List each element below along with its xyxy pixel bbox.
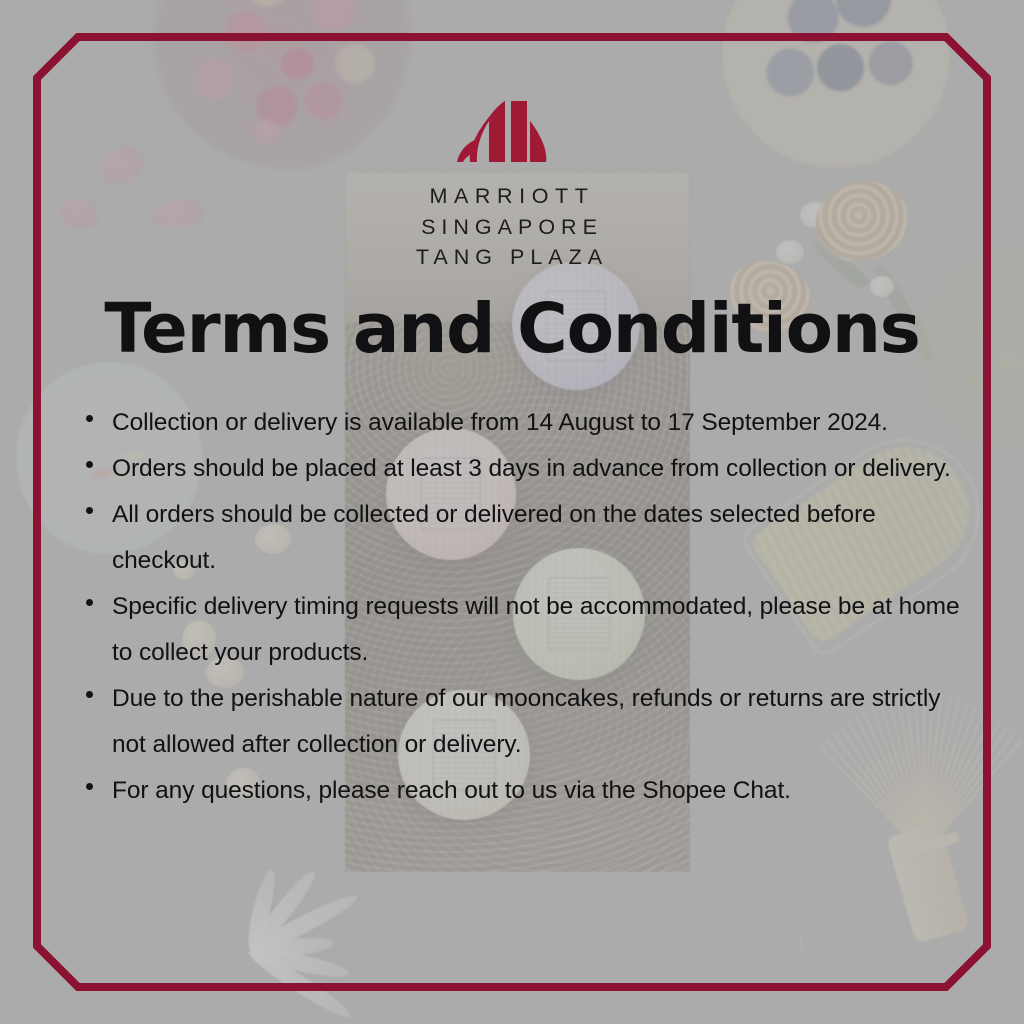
bullet-dot-icon bbox=[86, 691, 93, 698]
term-item: For any questions, please reach out to u… bbox=[80, 768, 968, 814]
term-item: Specific delivery timing requests will n… bbox=[80, 584, 968, 676]
brand-lockup: MARRIOTT SINGAPORE TANG PLAZA bbox=[0, 100, 1024, 273]
bullet-dot-icon bbox=[86, 783, 93, 790]
marriott-m-logo-icon bbox=[456, 100, 568, 172]
term-item: All orders should be collected or delive… bbox=[80, 492, 968, 584]
bullet-dot-icon bbox=[86, 507, 93, 514]
poster-canvas: MARRIOTT SINGAPORE TANG PLAZA Terms and … bbox=[0, 0, 1024, 1024]
brand-line-1: MARRIOTT bbox=[0, 181, 1024, 212]
term-item: Due to the perishable nature of our moon… bbox=[80, 676, 968, 768]
term-item: Collection or delivery is available from… bbox=[80, 400, 968, 446]
brand-line-2: SINGAPORE bbox=[0, 212, 1024, 243]
term-item-text: For any questions, please reach out to u… bbox=[112, 777, 791, 804]
poster-content: MARRIOTT SINGAPORE TANG PLAZA Terms and … bbox=[0, 0, 1024, 1024]
term-item-text: Due to the perishable nature of our moon… bbox=[112, 685, 940, 758]
brand-line-3: TANG PLAZA bbox=[0, 242, 1024, 273]
term-item: Orders should be placed at least 3 days … bbox=[80, 446, 968, 492]
page-title: Terms and Conditions bbox=[0, 295, 1024, 364]
term-item-text: Orders should be placed at least 3 days … bbox=[112, 455, 951, 482]
bullet-dot-icon bbox=[86, 415, 93, 422]
term-item-text: Specific delivery timing requests will n… bbox=[112, 593, 960, 666]
term-item-text: All orders should be collected or delive… bbox=[112, 501, 876, 574]
bullet-dot-icon bbox=[86, 461, 93, 468]
terms-list: Collection or delivery is available from… bbox=[80, 400, 968, 814]
brand-name-block: MARRIOTT SINGAPORE TANG PLAZA bbox=[0, 181, 1024, 273]
bullet-dot-icon bbox=[86, 599, 93, 606]
term-item-text: Collection or delivery is available from… bbox=[112, 409, 888, 436]
